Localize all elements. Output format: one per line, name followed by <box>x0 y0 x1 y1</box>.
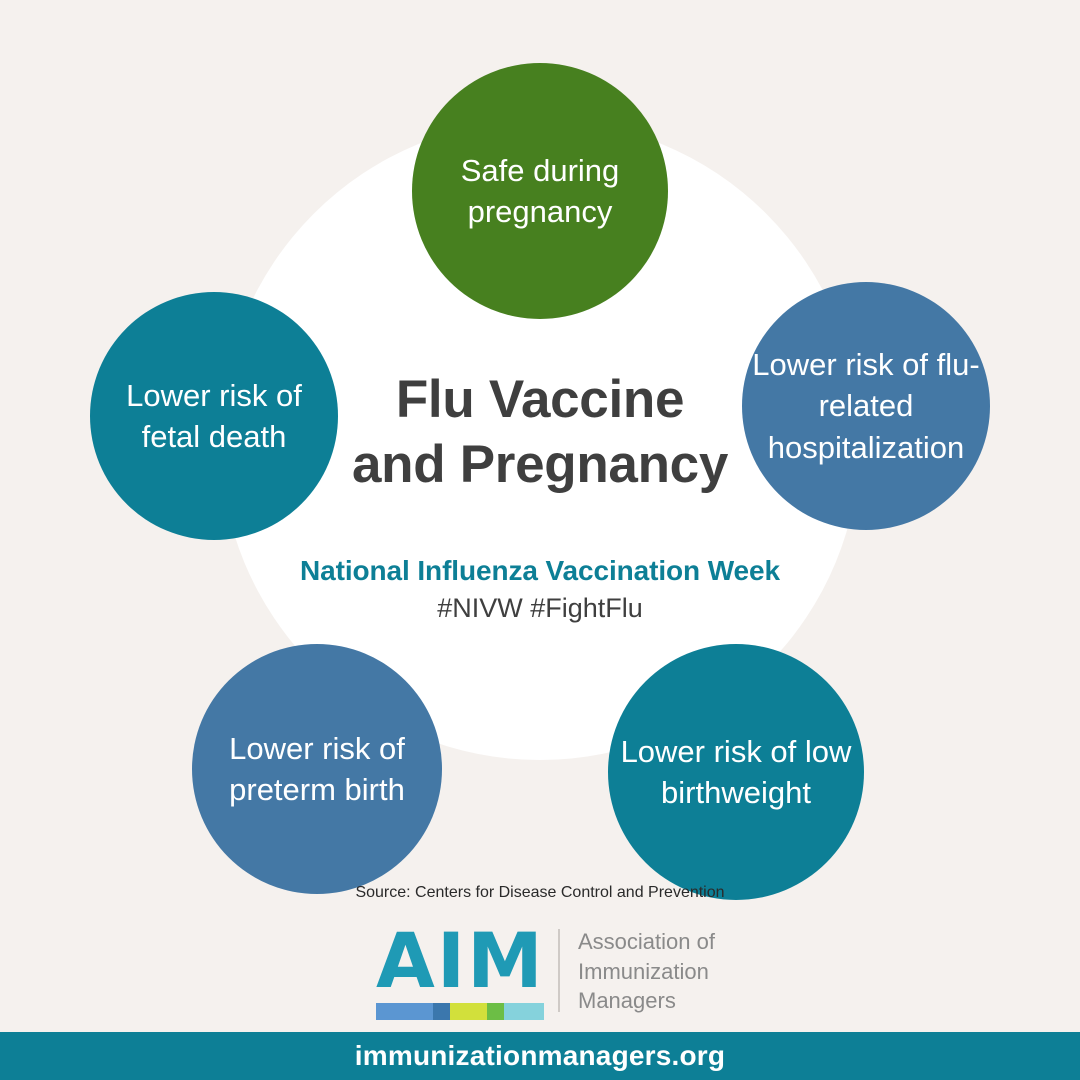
color-bar-segment-2 <box>433 1003 450 1020</box>
center-text-block: Flu Vaccine and Pregnancy National Influ… <box>260 368 820 624</box>
color-bar-segment-5 <box>504 1003 544 1020</box>
color-bar-segment-3 <box>450 1003 487 1020</box>
title-line-2: and Pregnancy <box>260 433 820 498</box>
org-line-2: Immunization <box>578 957 715 987</box>
aim-logo-letters: AIM <box>376 925 544 997</box>
org-line-1: Association of <box>578 927 715 957</box>
hashtags: #NIVW #FightFlu <box>260 593 820 624</box>
aim-logo: AIM Association of Immunization Managers <box>376 925 715 1020</box>
page-title: Flu Vaccine and Pregnancy <box>260 368 820 497</box>
title-line-1: Flu Vaccine <box>260 368 820 433</box>
campaign-name: National Influenza Vaccination Week <box>260 555 820 587</box>
aim-logo-color-bar <box>376 1003 544 1020</box>
petal-safe-during-pregnancy: Safe during pregnancy <box>412 63 668 319</box>
website-url[interactable]: immunizationmanagers.org <box>355 1040 725 1072</box>
petal-low-birthweight: Lower risk of low birthweight <box>608 644 864 900</box>
petal-preterm-birth: Lower risk of preterm birth <box>192 644 442 894</box>
petal-label: Lower risk of preterm birth <box>202 728 432 810</box>
logo-divider <box>558 929 560 1012</box>
source-note: Source: Centers for Disease Control and … <box>0 884 1080 902</box>
petal-label: Safe during pregnancy <box>422 150 658 232</box>
aim-logo-mark: AIM <box>376 925 544 1020</box>
aim-organization-name: Association of Immunization Managers <box>578 925 715 1016</box>
petal-label: Lower risk of low birthweight <box>618 731 854 813</box>
color-bar-segment-1 <box>376 1003 433 1020</box>
footer-bar: immunizationmanagers.org <box>0 1032 1080 1080</box>
org-line-3: Managers <box>578 986 715 1016</box>
infographic-canvas: Safe during pregnancy Lower risk of flu-… <box>0 0 1080 1080</box>
color-bar-segment-4 <box>487 1003 504 1020</box>
